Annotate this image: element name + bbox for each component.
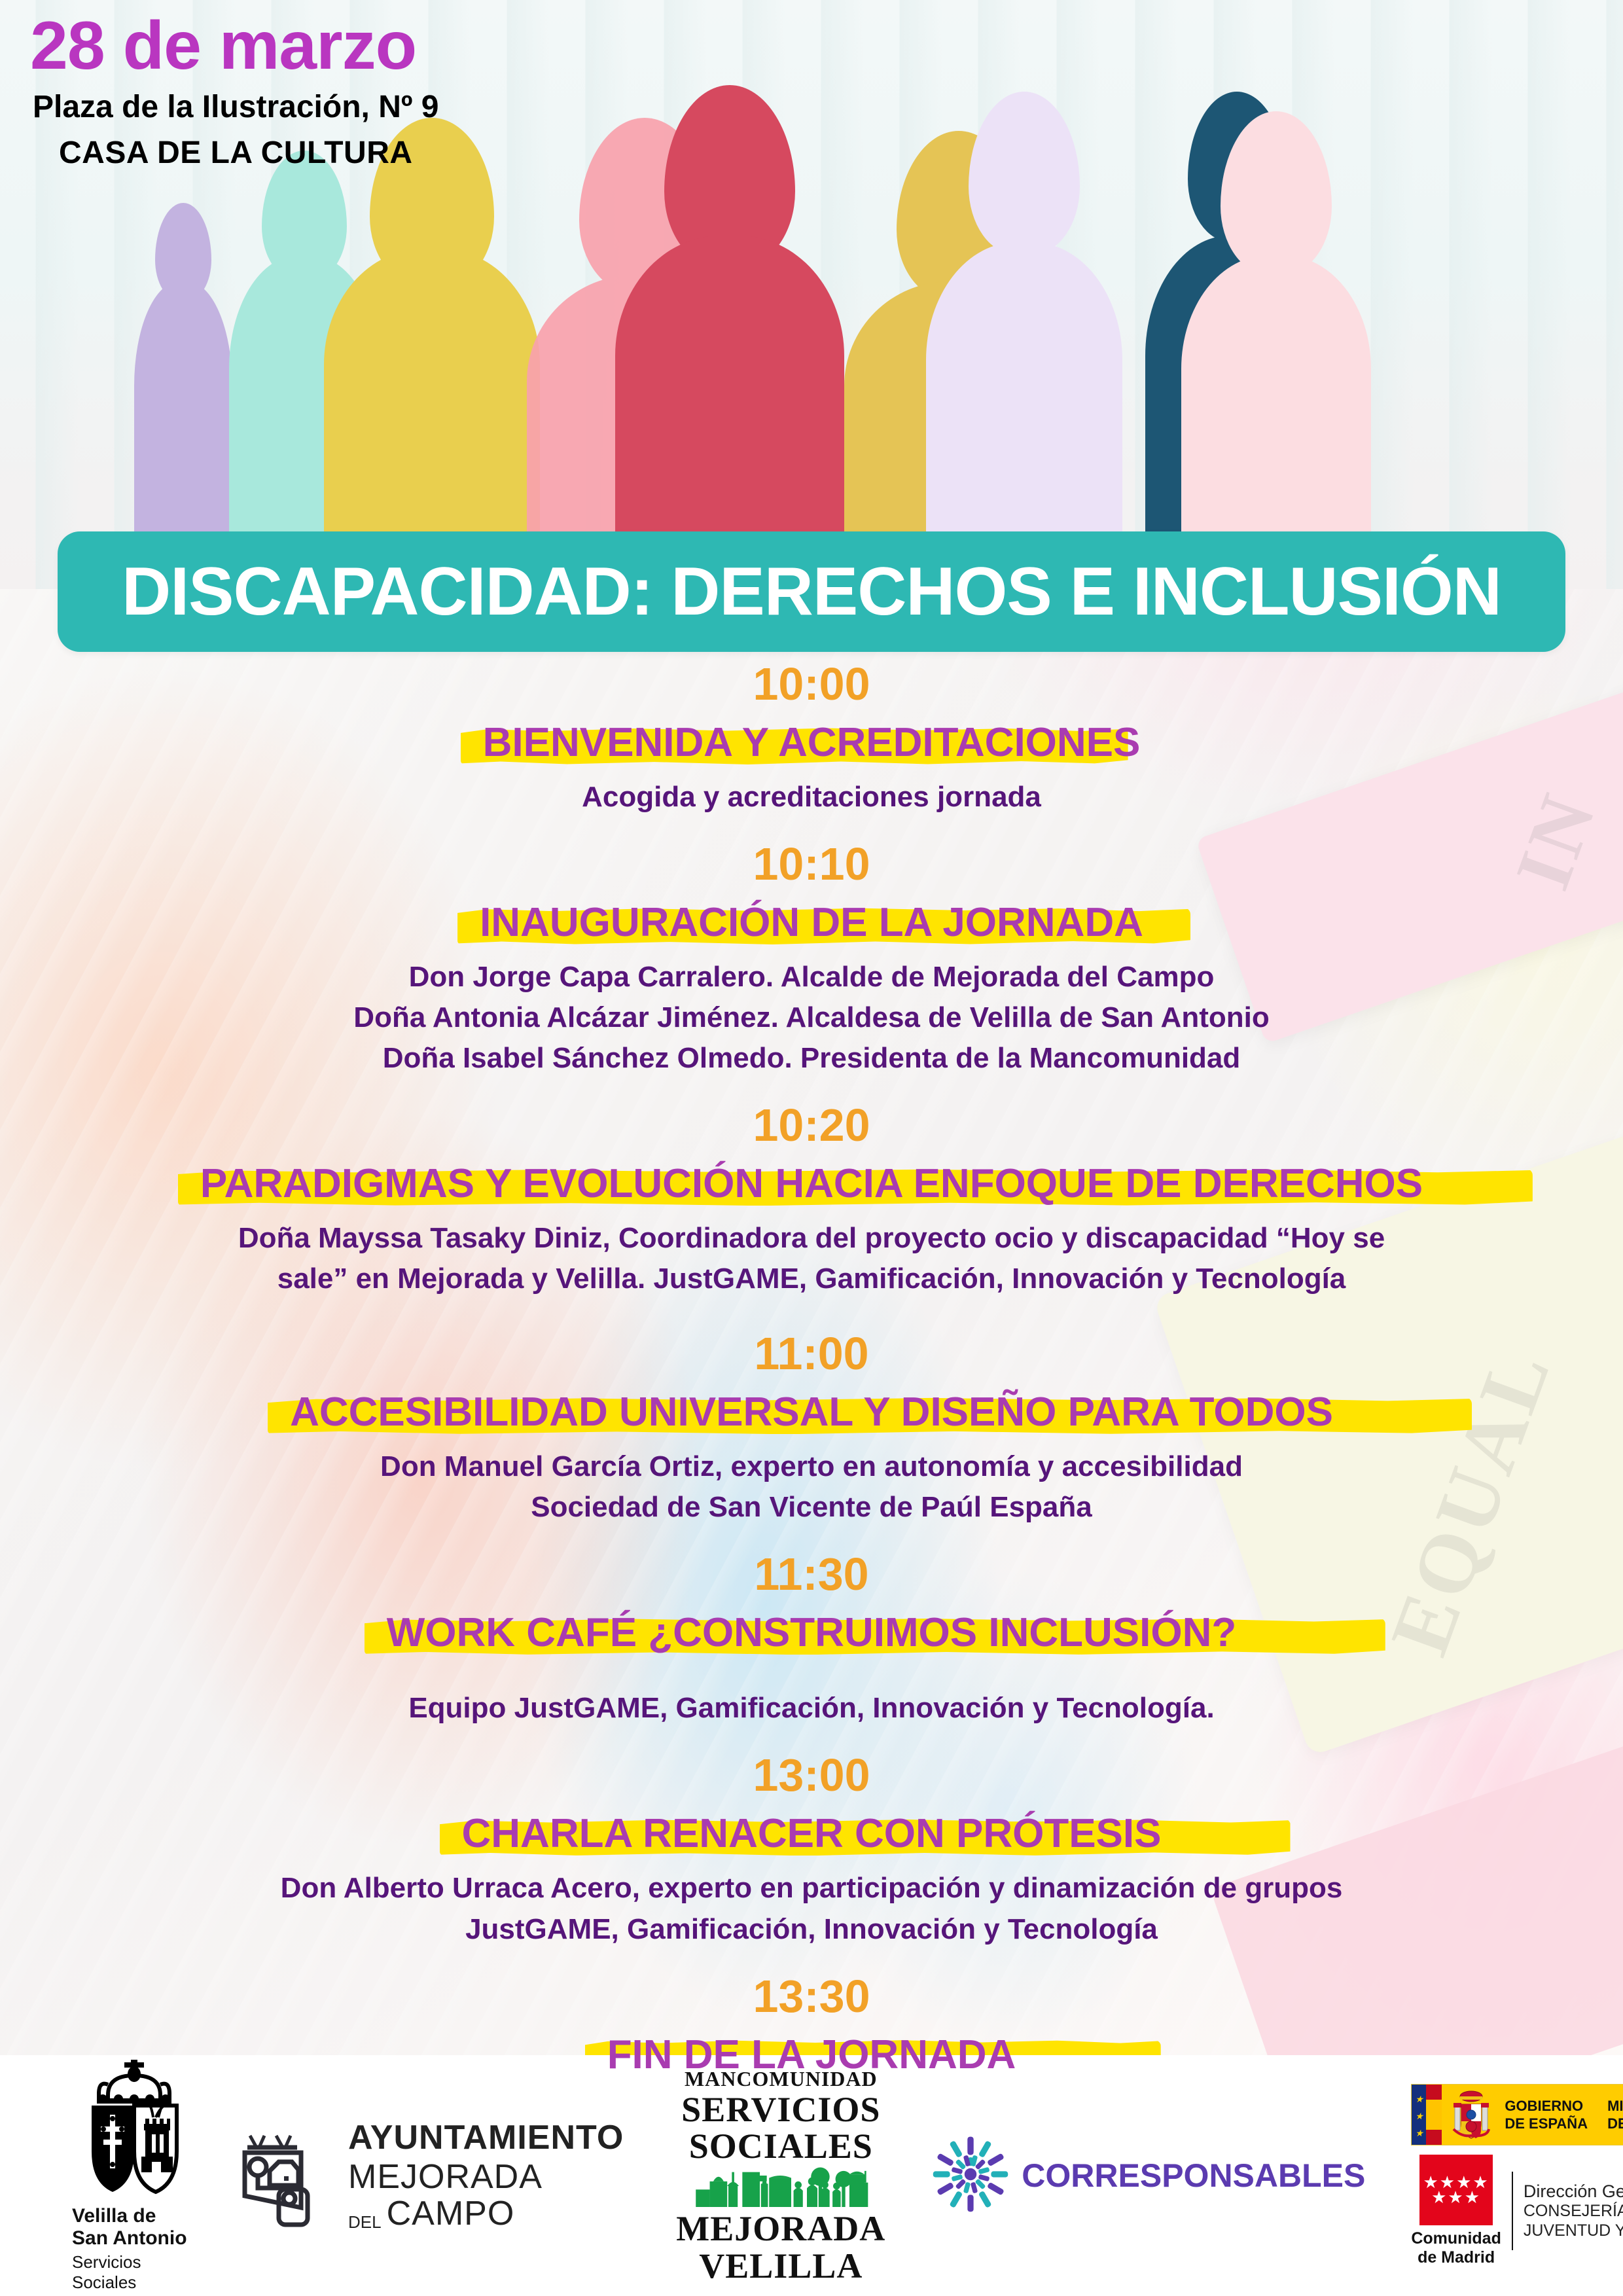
- direccion-general: Dirección General de Igualdad: [1524, 2181, 1623, 2202]
- footer-logos-bar: Velilla de San Antonio Servicios Sociale…: [0, 2055, 1623, 2296]
- slot-title: WORK CAFÉ ¿CONSTRUIMOS INCLUSIÓN?: [365, 1609, 1259, 1659]
- gobierno-panel: GOBIERNO DE ESPAÑA MINISTERIO DE IGUALDA…: [1442, 2085, 1623, 2145]
- program-schedule: 10:00 BIENVENIDA Y ACREDITACIONES Acogid…: [0, 661, 1623, 2090]
- ayuntamiento-emblem-icon: [236, 2119, 334, 2233]
- slot-time: 11:30: [0, 1551, 1623, 1597]
- manco-line3: SOCIALES: [689, 2128, 873, 2165]
- slot-time: 11:00: [0, 1331, 1623, 1376]
- slot-title-wrap: CHARLA RENACER CON PRÓTESIS: [0, 1810, 1623, 1860]
- event-date: 28 de marzo: [30, 12, 438, 80]
- paper-doll-head: [1221, 111, 1332, 275]
- slot-line: JustGAME, Gamificación, Innovación y Tec…: [216, 1910, 1407, 1948]
- slot-title-text: FIN DE LA JORNADA: [607, 2032, 1016, 2077]
- program-slot: 10:00 BIENVENIDA Y ACREDITACIONES Acogid…: [0, 661, 1623, 816]
- slot-line: Doña Mayssa Tasaky Diniz, Coordinadora d…: [216, 1219, 1407, 1257]
- consejeria-line1: CONSEJERÍA DE FAMILIA,: [1524, 2202, 1623, 2221]
- ministerio-text: MINISTERIO DE IGUALDAD: [1607, 2097, 1623, 2133]
- spain-flag-icon: [1426, 2085, 1442, 2145]
- comunidad-line2: de Madrid: [1411, 2248, 1501, 2267]
- slot-time: 13:30: [0, 1973, 1623, 2019]
- slot-line: Equipo JustGAME, Gamificación, Innovació…: [216, 1689, 1407, 1727]
- logo-comunidad-de-madrid: ★★★★ ★★★ Comunidad de Madrid Dirección G…: [1411, 2155, 1623, 2267]
- comunidad-line1: Comunidad: [1411, 2229, 1501, 2248]
- slot-title-text: ACCESIBILIDAD UNIVERSAL Y DISEÑO PARA TO…: [290, 1390, 1333, 1435]
- comunidad-wordmark: Comunidad de Madrid: [1411, 2229, 1501, 2267]
- ayto-line4: CAMPO: [387, 2197, 515, 2231]
- slot-line: Sociedad de San Vicente de Paúl España: [216, 1488, 1407, 1526]
- slot-title: BIENVENIDA Y ACREDITACIONES: [461, 719, 1163, 769]
- paper-doll-blush: [1158, 92, 1394, 589]
- logo-mancomunidad-servicios-sociales: MANCOMUNIDAD SERVICIOS SOCIALES: [676, 2067, 885, 2285]
- spacer: [0, 1529, 1623, 1551]
- velilla-shield-icon: [72, 2058, 196, 2196]
- spacer: [0, 1730, 1623, 1752]
- slot-title-wrap: INAUGURACIÓN DE LA JORNADA: [0, 899, 1623, 949]
- spacer: [0, 1951, 1623, 1973]
- logo-ayuntamiento-mejorada: AYUNTAMIENTO MEJORADA DEL CAMPO: [236, 2119, 624, 2233]
- ayto-line3-row: DEL CAMPO: [348, 2197, 624, 2231]
- slot-line: sale” en Mejorada y Velilla. JustGAME, G…: [216, 1260, 1407, 1298]
- manco-line5: VELILLA: [699, 2248, 863, 2285]
- divider: [1512, 2172, 1513, 2250]
- ayto-line1: AYUNTAMIENTO: [348, 2121, 624, 2155]
- slot-description: Don Alberto Urraca Acero, experto en par…: [216, 1869, 1407, 1948]
- slot-title: CHARLA RENACER CON PRÓTESIS: [440, 1810, 1184, 1860]
- spain-coat-of-arms-icon: [1447, 2089, 1495, 2141]
- slot-line: Doña Isabel Sánchez Olmedo. Presidenta d…: [216, 1039, 1407, 1077]
- corresponsables-wordmark: CORRESPONSABLES: [1022, 2157, 1365, 2195]
- slot-title: FIN DE LA JORNADA: [585, 2031, 1039, 2081]
- ayuntamiento-wordmark: AYUNTAMIENTO MEJORADA DEL CAMPO: [348, 2121, 624, 2231]
- manco-skyline-icon: [683, 2165, 879, 2210]
- gobierno-text: GOBIERNO DE ESPAÑA: [1505, 2097, 1588, 2133]
- corresponsables-starburst-icon: [931, 2135, 1010, 2217]
- slot-time: 13:00: [0, 1752, 1623, 1798]
- ayto-line2: MEJORADA: [348, 2160, 624, 2194]
- velilla-name: Velilla de San Antonio: [72, 2205, 196, 2250]
- title-banner: DISCAPACIDAD: DERECHOS E INCLUSIÓN: [58, 531, 1565, 652]
- slot-description: Don Jorge Capa Carralero. Alcalde de Mej…: [216, 958, 1407, 1077]
- manco-line2: SERVICIOS: [681, 2091, 880, 2128]
- slot-title-wrap: PARADIGMAS Y EVOLUCIÓN HACIA ENFOQUE DE …: [0, 1160, 1623, 1210]
- slot-line: Don Manuel García Ortiz, experto en auto…: [216, 1448, 1407, 1486]
- slot-time: 10:20: [0, 1102, 1623, 1148]
- manco-line4: MEJORADA: [676, 2210, 885, 2248]
- program-slot: 10:20 PARADIGMAS Y EVOLUCIÓN HACIA ENFOQ…: [0, 1102, 1623, 1298]
- spacer: [0, 819, 1623, 841]
- slot-title-text: PARADIGMAS Y EVOLUCIÓN HACIA ENFOQUE DE …: [200, 1161, 1423, 1206]
- ministerio-line2: DE IGUALDAD: [1607, 2115, 1623, 2133]
- header-block: 28 de marzo Plaza de la Ilustración, Nº …: [30, 12, 438, 169]
- poster-root: IN EQUAL: [0, 0, 1623, 2296]
- madrid-stars-icon: ★★★★ ★★★: [1419, 2155, 1493, 2225]
- slot-line: Don Jorge Capa Carralero. Alcalde de Mej…: [216, 958, 1407, 996]
- slot-description: Don Manuel García Ortiz, experto en auto…: [216, 1448, 1407, 1526]
- program-slot: 11:00 ACCESIBILIDAD UNIVERSAL Y DISEÑO P…: [0, 1331, 1623, 1526]
- slot-title-wrap: BIENVENIDA Y ACREDITACIONES: [0, 719, 1623, 769]
- slot-title-text: WORK CAFÉ ¿CONSTRUIMOS INCLUSIÓN?: [387, 1610, 1237, 1655]
- consejeria-line2: JUVENTUD Y POLÍTICA SOCIAL: [1524, 2221, 1623, 2241]
- slot-title-wrap: ACCESIBILIDAD UNIVERSAL Y DISEÑO PARA TO…: [0, 1388, 1623, 1439]
- slot-title: ACCESIBILIDAD UNIVERSAL Y DISEÑO PARA TO…: [268, 1388, 1355, 1439]
- program-slot: 13:00 CHARLA RENACER CON PRÓTESIS Don Al…: [0, 1752, 1623, 1948]
- slot-title-text: BIENVENIDA Y ACREDITACIONES: [483, 720, 1141, 765]
- logo-corresponsables: CORRESPONSABLES: [931, 2135, 1365, 2217]
- slot-description: Acogida y acreditaciones jornada: [216, 778, 1407, 816]
- comunidad-mark: ★★★★ ★★★ Comunidad de Madrid: [1411, 2155, 1501, 2267]
- page-title: DISCAPACIDAD: DERECHOS E INCLUSIÓN: [122, 553, 1501, 631]
- slot-time: 10:00: [0, 661, 1623, 707]
- gobierno-line2: DE ESPAÑA: [1505, 2115, 1588, 2133]
- slot-description: Doña Mayssa Tasaky Diniz, Coordinadora d…: [216, 1219, 1407, 1298]
- velilla-dept: Servicios Sociales: [72, 2252, 196, 2293]
- eu-flag-icon: ★★★: [1412, 2085, 1426, 2145]
- gobierno-line1: GOBIERNO: [1505, 2097, 1588, 2115]
- ministerio-line1: MINISTERIO: [1607, 2097, 1623, 2115]
- paper-doll-head: [969, 92, 1080, 255]
- consejeria-text: Dirección General de Igualdad CONSEJERÍA…: [1524, 2181, 1623, 2240]
- spacer: [0, 1300, 1623, 1331]
- logo-gobierno-comunidad-group: ★★★: [1411, 2084, 1623, 2267]
- slot-title-text: INAUGURACIÓN DE LA JORNADA: [480, 900, 1143, 945]
- slot-time: 10:10: [0, 841, 1623, 887]
- slot-title: INAUGURACIÓN DE LA JORNADA: [457, 899, 1166, 949]
- slot-line: Don Alberto Urraca Acero, experto en par…: [216, 1869, 1407, 1907]
- program-slot: 10:10 INAUGURACIÓN DE LA JORNADA Don Jor…: [0, 841, 1623, 1077]
- ayto-line3: DEL: [348, 2214, 382, 2231]
- stars-row-2: ★★★: [1423, 2190, 1489, 2205]
- slot-title: PARADIGMAS Y EVOLUCIÓN HACIA ENFOQUE DE …: [178, 1160, 1445, 1210]
- program-slot: 11:30 WORK CAFÉ ¿CONSTRUIMOS INCLUSIÓN? …: [0, 1551, 1623, 1727]
- madrid-stars: ★★★★ ★★★: [1423, 2175, 1489, 2206]
- slot-title-text: CHARLA RENACER CON PRÓTESIS: [462, 1811, 1162, 1856]
- logo-velilla-de-san-antonio: Velilla de San Antonio Servicios Sociale…: [72, 2058, 196, 2293]
- flag-bar: ★★★: [1412, 2085, 1442, 2145]
- spacer: [0, 1080, 1623, 1102]
- event-venue: CASA DE LA CULTURA: [59, 137, 438, 169]
- paper-doll-lavender: [903, 72, 1145, 589]
- slot-title-wrap: WORK CAFÉ ¿CONSTRUIMOS INCLUSIÓN?: [0, 1609, 1623, 1659]
- slot-description: Equipo JustGAME, Gamificación, Innovació…: [216, 1689, 1407, 1727]
- event-address: Plaza de la Ilustración, Nº 9: [33, 92, 438, 123]
- slot-line: Doña Antonia Alcázar Jiménez. Alcaldesa …: [216, 999, 1407, 1037]
- logo-gobierno-de-espana: ★★★: [1411, 2084, 1623, 2145]
- slot-line: Acogida y acreditaciones jornada: [216, 778, 1407, 816]
